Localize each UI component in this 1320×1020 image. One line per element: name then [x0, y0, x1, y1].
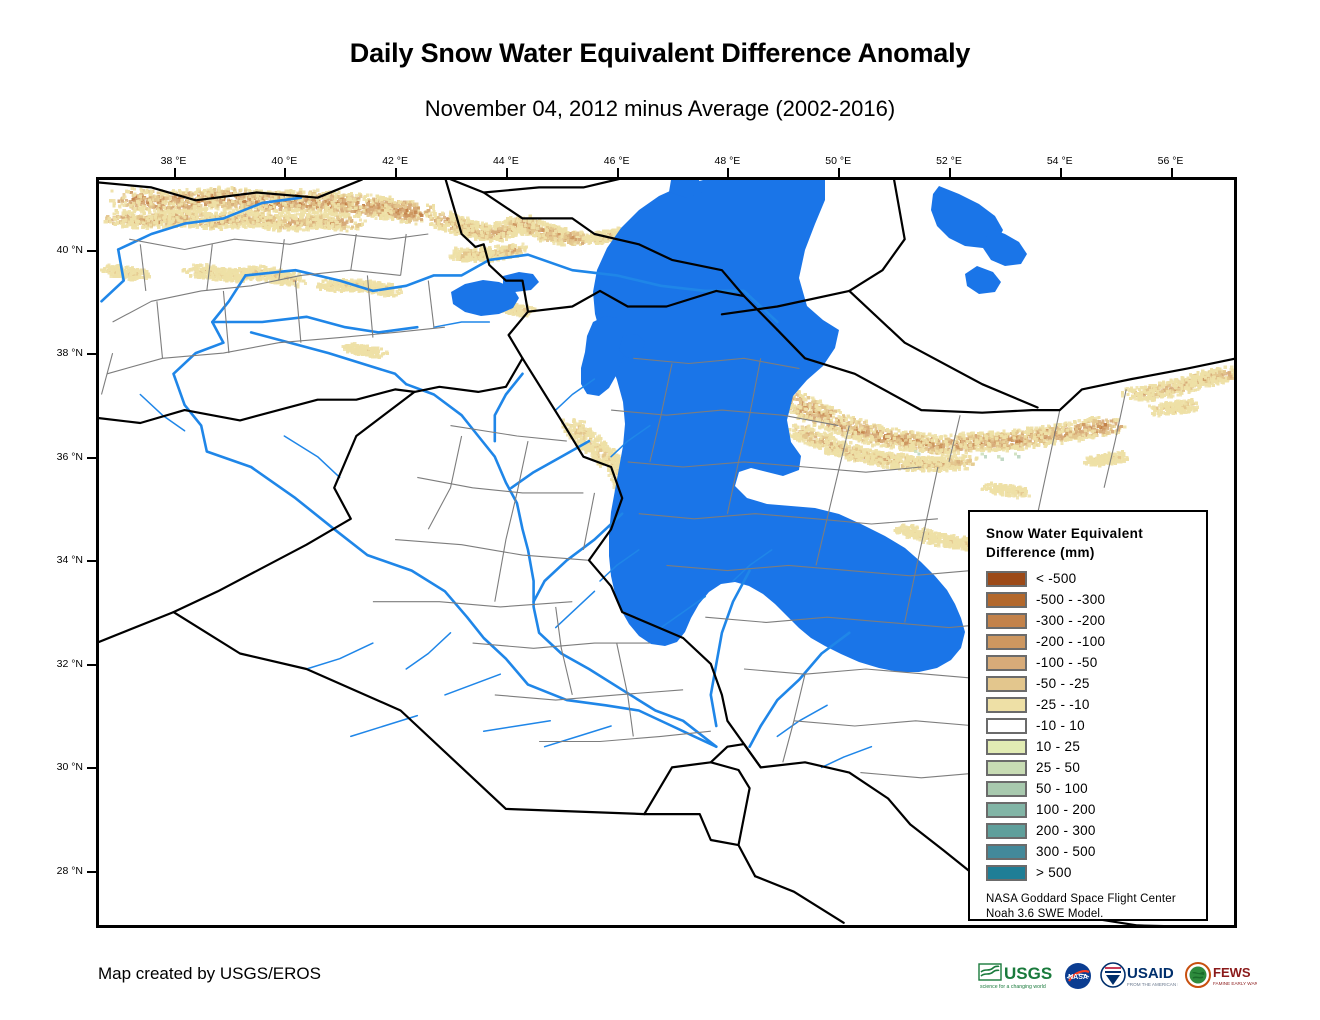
anomaly-cell [549, 224, 552, 227]
anomaly-cell [471, 229, 474, 232]
anomaly-cell [133, 207, 136, 210]
anomaly-cell [330, 208, 333, 211]
anomaly-cell [319, 215, 322, 218]
anomaly-cell [157, 204, 160, 207]
anomaly-cell [292, 220, 295, 223]
anomaly-cell [302, 206, 305, 209]
map-page: Daily Snow Water Equivalent Difference A… [0, 0, 1320, 1020]
anomaly-cell [517, 230, 520, 233]
anomaly-cell [124, 212, 127, 215]
anomaly-cell [381, 201, 384, 204]
anomaly-cell [420, 218, 423, 221]
anomaly-cell [505, 252, 508, 255]
anomaly-cell [473, 234, 476, 237]
anomaly-cell [143, 196, 146, 199]
anomaly-cell [548, 237, 551, 240]
anomaly-cell [215, 224, 218, 227]
anomaly-cell [429, 206, 432, 209]
anomaly-cell [240, 203, 243, 206]
anomaly-cell [132, 202, 135, 205]
anomaly-cell [148, 208, 151, 211]
anomaly-cell [318, 220, 321, 223]
anomaly-cell [136, 226, 139, 229]
anomaly-cell [505, 222, 508, 225]
anomaly-cell [307, 215, 310, 218]
anomaly-cell [415, 203, 418, 206]
anomaly-cell [430, 222, 433, 225]
anomaly-cell [223, 211, 226, 214]
anomaly-cell [203, 271, 206, 274]
anomaly-cell [104, 220, 107, 223]
anomaly-cell [504, 228, 507, 231]
anomaly-cell [351, 203, 354, 206]
anomaly-cell [148, 211, 151, 214]
anomaly-cell [217, 185, 220, 188]
anomaly-cell [133, 188, 136, 191]
anomaly-cell [298, 204, 301, 207]
anomaly-cell [332, 203, 335, 206]
anomaly-cell [279, 208, 282, 211]
anomaly-cell [286, 190, 289, 193]
anomaly-cell [172, 218, 175, 221]
anomaly-cell [443, 216, 446, 219]
anomaly-cell [560, 228, 563, 231]
anomaly-cell [365, 206, 368, 209]
anomaly-cell [123, 196, 126, 199]
anomaly-cell [561, 232, 564, 235]
anomaly-cell [339, 194, 342, 197]
anomaly-cell [277, 220, 280, 223]
anomaly-cell [281, 223, 284, 226]
anomaly-cell [108, 217, 111, 220]
anomaly-cell [200, 264, 203, 267]
anomaly-cell [429, 216, 432, 219]
anomaly-cell [535, 231, 538, 234]
anomaly-cell [145, 191, 148, 194]
anomaly-cell [327, 209, 330, 212]
anomaly-cell [319, 223, 322, 226]
anomaly-cell [366, 214, 369, 217]
anomaly-cell [211, 221, 214, 224]
anomaly-cell [223, 204, 226, 207]
anomaly-cell [142, 221, 145, 224]
anomaly-cell [356, 225, 359, 228]
anomaly-cell [231, 218, 234, 221]
anomaly-cell [164, 209, 167, 212]
anomaly-cell [327, 206, 330, 209]
anomaly-cell [221, 190, 224, 193]
anomaly-cell [405, 209, 408, 212]
anomaly-cell [255, 266, 258, 269]
anomaly-cell [264, 226, 267, 229]
anomaly-cell [582, 233, 585, 236]
anomaly-cell [113, 217, 116, 220]
anomaly-cell [420, 214, 423, 217]
anomaly-cell [213, 188, 216, 191]
anomaly-cell [132, 194, 135, 197]
anomaly-cell [217, 274, 220, 277]
anomaly-cell [286, 217, 289, 220]
anomaly-cell [402, 220, 405, 223]
anomaly-cell [573, 242, 576, 245]
anomaly-cell [521, 243, 524, 246]
anomaly-cell [116, 211, 119, 214]
anomaly-cell [481, 252, 484, 255]
anomaly-cell [413, 214, 416, 217]
anomaly-cell [226, 192, 229, 195]
anomaly-cell [454, 255, 457, 258]
anomaly-cell [228, 205, 231, 208]
anomaly-cell [481, 222, 484, 225]
anomaly-cell [362, 198, 365, 201]
anomaly-cell [143, 212, 146, 215]
anomaly-cell [316, 212, 319, 215]
anomaly-cell [193, 191, 196, 194]
anomaly-cell [450, 231, 453, 234]
anomaly-cell [243, 270, 246, 273]
anomaly-cell [199, 268, 202, 271]
anomaly-cell [274, 196, 277, 199]
anomaly-cell [113, 212, 116, 215]
anomaly-cell [210, 272, 213, 275]
anomaly-cell [299, 224, 302, 227]
anomaly-cell [116, 221, 119, 224]
anomaly-cell [331, 223, 334, 226]
anomaly-cell [453, 225, 456, 228]
anomaly-cell [497, 227, 500, 230]
anomaly-cell [336, 221, 339, 224]
anomaly-cell [339, 199, 342, 202]
anomaly-cell [278, 217, 281, 220]
anomaly-cell [578, 238, 581, 241]
anomaly-cell [237, 223, 240, 226]
anomaly-cell [477, 230, 480, 233]
anomaly-cell [204, 206, 207, 209]
anomaly-cell [309, 221, 312, 224]
anomaly-cell [405, 221, 408, 224]
anomaly-cell [215, 278, 218, 281]
anomaly-cell [265, 205, 268, 208]
anomaly-cell [326, 195, 329, 198]
anomaly-cell [312, 207, 315, 210]
anomaly-cell [508, 231, 511, 234]
anomaly-cell [224, 207, 227, 210]
anomaly-cell [193, 201, 196, 204]
anomaly-cell [258, 206, 261, 209]
anomaly-cell [498, 221, 501, 224]
anomaly-cell [358, 212, 361, 215]
anomaly-cell [355, 202, 358, 205]
anomaly-cell [272, 205, 275, 208]
anomaly-cell [246, 202, 249, 205]
anomaly-cell [133, 216, 136, 219]
anomaly-cell [398, 201, 401, 204]
anomaly-cell [341, 205, 344, 208]
anomaly-cell [349, 207, 352, 210]
anomaly-cell [408, 207, 411, 210]
anomaly-cell [164, 200, 167, 203]
anomaly-cell [380, 197, 383, 200]
anomaly-cell [366, 203, 369, 206]
anomaly-cell [154, 215, 157, 218]
anomaly-cell [268, 228, 271, 231]
anomaly-cell [382, 212, 385, 215]
anomaly-cell [163, 220, 166, 223]
anomaly-cell [120, 202, 123, 205]
anomaly-cell [464, 225, 467, 228]
anomaly-cell [564, 236, 567, 239]
anomaly-cell [337, 207, 340, 210]
anomaly-cell [441, 211, 444, 214]
anomaly-cell [216, 193, 219, 196]
anomaly-cell [500, 232, 503, 235]
anomaly-cell [240, 272, 243, 275]
anomaly-cell [553, 232, 556, 235]
anomaly-cell [394, 215, 397, 218]
anomaly-cell [518, 219, 521, 222]
anomaly-cell [542, 229, 545, 232]
anomaly-cell [251, 277, 254, 280]
anomaly-cell [160, 211, 163, 214]
anomaly-cell [440, 217, 443, 220]
anomaly-cell [181, 199, 184, 202]
anomaly-cell [348, 193, 351, 196]
anomaly-cell [157, 208, 160, 211]
anomaly-cell [216, 201, 219, 204]
anomaly-cell [426, 204, 429, 207]
anomaly-cell [158, 217, 161, 220]
anomaly-cell [109, 199, 112, 202]
anomaly-cell [505, 235, 508, 238]
anomaly-cell [277, 230, 280, 233]
anomaly-cell [169, 197, 172, 200]
anomaly-cell [523, 231, 526, 234]
anomaly-cell [464, 256, 467, 259]
anomaly-cell [518, 248, 521, 251]
anomaly-cell [199, 196, 202, 199]
anomaly-cell [531, 226, 534, 229]
anomaly-cell [256, 212, 259, 215]
anomaly-cell [228, 201, 231, 204]
anomaly-cell [123, 225, 126, 228]
anomaly-cell [462, 259, 465, 262]
anomaly-cell [389, 215, 392, 218]
anomaly-cell [294, 225, 297, 228]
anomaly-cell [511, 235, 514, 238]
anomaly-cell [291, 192, 294, 195]
anomaly-cell [155, 220, 158, 223]
page-title: Daily Snow Water Equivalent Difference A… [0, 38, 1320, 69]
anomaly-cell [437, 222, 440, 225]
anomaly-cell [476, 251, 479, 254]
anomaly-cell [545, 223, 548, 226]
anomaly-cell [468, 253, 471, 256]
anomaly-cell [252, 221, 255, 224]
anomaly-cell [296, 221, 299, 224]
anomaly-cell [109, 220, 112, 223]
anomaly-cell [353, 198, 356, 201]
anomaly-cell [491, 232, 494, 235]
anomaly-cell [290, 204, 293, 207]
anomaly-cell [402, 209, 405, 212]
anomaly-cell [258, 267, 261, 270]
anomaly-cell [485, 223, 488, 226]
anomaly-cell [160, 221, 163, 224]
anomaly-cell [581, 242, 584, 245]
anomaly-cell [526, 229, 529, 232]
anomaly-cell [308, 201, 311, 204]
anomaly-cell [251, 269, 254, 272]
anomaly-cell [477, 221, 480, 224]
anomaly-cell [248, 265, 251, 268]
anomaly-cell [564, 229, 567, 232]
anomaly-cell [481, 234, 484, 237]
anomaly-cell [244, 226, 247, 229]
anomaly-cell [590, 239, 593, 242]
anomaly-cell [492, 250, 495, 253]
anomaly-cell [399, 205, 402, 208]
anomaly-cell [313, 223, 316, 226]
anomaly-cell [559, 238, 562, 241]
anomaly-cell [244, 189, 247, 192]
anomaly-cell [432, 204, 435, 207]
anomaly-cell [314, 215, 317, 218]
anomaly-cell [540, 223, 543, 226]
anomaly-cell [233, 272, 236, 275]
anomaly-cell [501, 249, 504, 252]
anomaly-cell [246, 220, 249, 223]
anomaly-cell [273, 217, 276, 220]
anomaly-cell [216, 207, 219, 210]
anomaly-cell [520, 223, 523, 226]
anomaly-cell [340, 219, 343, 222]
anomaly-cell [129, 204, 132, 207]
anomaly-cell [497, 235, 500, 238]
anomaly-cell [137, 201, 140, 204]
anomaly-cell [450, 214, 453, 217]
anomaly-cell [225, 223, 228, 226]
anomaly-cell [112, 199, 115, 202]
anomaly-cell [489, 248, 492, 251]
anomaly-cell [185, 270, 188, 273]
anomaly-cell [342, 199, 345, 202]
anomaly-cell [485, 235, 488, 238]
anomaly-cell [144, 225, 147, 228]
anomaly-cell [464, 231, 467, 234]
anomaly-cell [438, 225, 441, 228]
anomaly-cell [256, 219, 259, 222]
anomaly-cell [210, 190, 213, 193]
anomaly-cell [348, 213, 351, 216]
anomaly-cell [480, 259, 483, 262]
anomaly-cell [536, 227, 539, 230]
anomaly-cell [408, 220, 411, 223]
anomaly-cell [445, 221, 448, 224]
anomaly-cell [170, 202, 173, 205]
anomaly-cell [330, 219, 333, 222]
anomaly-cell [467, 221, 470, 224]
anomaly-cell [121, 200, 124, 203]
anomaly-cell [505, 246, 508, 249]
anomaly-cell [443, 225, 446, 228]
anomaly-cell [124, 201, 127, 204]
anomaly-cell [413, 218, 416, 221]
anomaly-cell [111, 190, 114, 193]
anomaly-cell [434, 226, 437, 229]
anomaly-cell [374, 205, 377, 208]
anomaly-cell [278, 223, 281, 226]
anomaly-cell [328, 212, 331, 215]
anomaly-cell [197, 207, 200, 210]
anomaly-cell [312, 202, 315, 205]
anomaly-cell [270, 216, 273, 219]
anomaly-cell [293, 217, 296, 220]
anomaly-cell [407, 214, 410, 217]
anomaly-cell [220, 268, 223, 271]
anomaly-cell [250, 225, 253, 228]
anomaly-cell [192, 216, 195, 219]
anomaly-cell [138, 207, 141, 210]
anomaly-cell [153, 209, 156, 212]
anomaly-cell [404, 206, 407, 209]
anomaly-cell [194, 205, 197, 208]
anomaly-cell [317, 208, 320, 211]
anomaly-cell [547, 232, 550, 235]
anomaly-cell [147, 219, 150, 222]
anomaly-cell [375, 217, 378, 220]
anomaly-cell [604, 238, 607, 241]
anomaly-cell [162, 226, 165, 229]
anomaly-cell [210, 187, 213, 190]
anomaly-cell [527, 225, 530, 228]
anomaly-cell [310, 224, 313, 227]
anomaly-cell [567, 231, 570, 234]
anomaly-cell [454, 232, 457, 235]
anomaly-cell [373, 212, 376, 215]
page-subtitle: November 04, 2012 minus Average (2002-20… [0, 96, 1320, 122]
anomaly-cell [520, 231, 523, 234]
anomaly-cell [327, 225, 330, 228]
anomaly-cell [174, 198, 177, 201]
anomaly-cell [223, 201, 226, 204]
anomaly-cell [542, 234, 545, 237]
anomaly-cell [561, 241, 564, 244]
anomaly-cell [190, 200, 193, 203]
anomaly-cell [163, 206, 166, 209]
anomaly-cell [303, 209, 306, 212]
anomaly-cell [213, 205, 216, 208]
anomaly-cell [450, 218, 453, 221]
anomaly-cell [155, 198, 158, 201]
anomaly-cell [275, 210, 278, 213]
anomaly-cell [524, 224, 527, 227]
anomaly-cell [434, 215, 437, 218]
anomaly-cell [239, 200, 242, 203]
anomaly-cell [414, 207, 417, 210]
anomaly-cell [447, 224, 450, 227]
anomaly-cell [180, 202, 183, 205]
anomaly-cell [408, 204, 411, 207]
anomaly-cell [359, 195, 362, 198]
anomaly-cell [366, 194, 369, 197]
anomaly-cell [139, 195, 142, 198]
anomaly-cell [245, 217, 248, 220]
anomaly-cell [149, 202, 152, 205]
anomaly-cell [511, 246, 514, 249]
anomaly-cell [302, 191, 305, 194]
anomaly-cell [219, 225, 222, 228]
anomaly-cell [525, 246, 528, 249]
